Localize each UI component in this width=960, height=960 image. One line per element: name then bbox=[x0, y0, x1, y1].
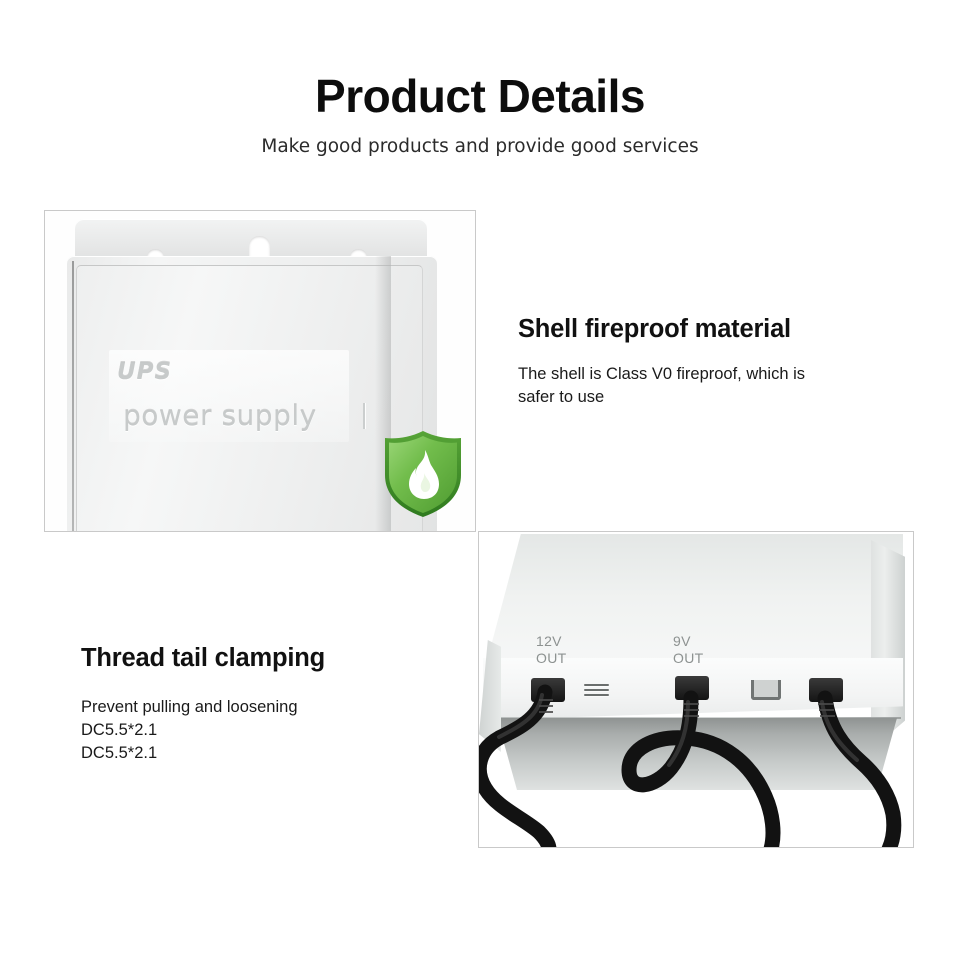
fireproof-shield-flame-icon bbox=[379, 429, 467, 519]
dc-jack-third bbox=[809, 678, 843, 702]
dc-jack-12v bbox=[531, 678, 565, 702]
embossed-brand-text: UPS bbox=[117, 359, 172, 385]
ups-enclosure-photo: UPS power supply bbox=[45, 211, 475, 531]
page-title: Product Details bbox=[0, 0, 960, 122]
feature-body: The shell is Class V0 fireproof, which i… bbox=[518, 345, 910, 410]
feature-shell-fireproof: Shell fireproof material The shell is Cl… bbox=[518, 314, 910, 409]
feature-thread-tail-clamping: Thread tail clamping Prevent pulling and… bbox=[81, 643, 461, 766]
port-label-12v: 12V OUT bbox=[536, 633, 566, 667]
dc-jack-9v bbox=[675, 676, 709, 700]
product-photo-panel-ports: 12V OUT 9V OUT bbox=[478, 531, 914, 848]
page-subtitle: Make good products and provide good serv… bbox=[0, 122, 960, 158]
embossed-tick-mark bbox=[363, 403, 365, 429]
device-left-side bbox=[479, 640, 501, 752]
embossed-product-text: power supply bbox=[123, 399, 317, 432]
feature-heading: Shell fireproof material bbox=[518, 314, 910, 345]
feature-body: Prevent pulling and loosening DC5.5*2.1 … bbox=[81, 674, 461, 766]
output-ports-photo: 12V OUT 9V OUT bbox=[479, 532, 913, 847]
cable-notch bbox=[751, 680, 781, 700]
vent-slots bbox=[584, 684, 609, 699]
product-photo-panel-front: UPS power supply bbox=[44, 210, 476, 532]
page-header: Product Details Make good products and p… bbox=[0, 0, 960, 158]
feature-heading: Thread tail clamping bbox=[81, 643, 461, 674]
enclosure-left-seam bbox=[72, 261, 74, 532]
port-label-9v: 9V OUT bbox=[673, 633, 703, 667]
device-underside bbox=[497, 718, 897, 790]
